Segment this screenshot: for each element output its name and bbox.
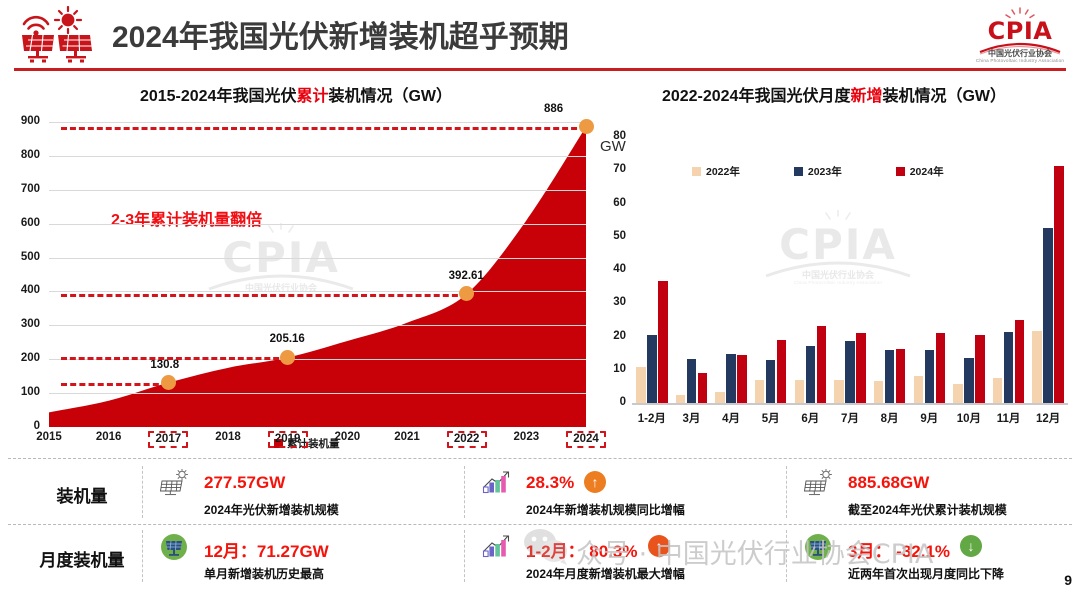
x-axis-tick-label: 5月 [749, 410, 793, 426]
table-cell-value: 1-2月： 80.3% [526, 537, 638, 562]
table-column-divider [786, 530, 787, 582]
solar-panel-icon [14, 6, 106, 64]
table-column-divider [142, 530, 143, 582]
bar-2022年-4月[interactable] [715, 392, 725, 403]
table-cell-value: 3月： -32.1% [848, 537, 950, 562]
x-axis-baseline [632, 403, 1068, 405]
table-cell-value: 28.3% [526, 473, 574, 493]
y-axis-tick-label: 500 [6, 251, 40, 263]
solar-panel-green-circle-icon [160, 533, 188, 566]
bar-2024年-12月[interactable] [1054, 166, 1064, 403]
bar-2024年-5月[interactable] [777, 340, 787, 403]
gridline [49, 325, 586, 326]
x-axis-tick-label: 2020 [327, 431, 367, 443]
bar-2024年-4月[interactable] [737, 355, 747, 403]
cumulative-area-series [49, 122, 586, 427]
table-cell-caption: 近两年首次出现月度同比下降 [848, 565, 1004, 582]
x-axis-tick-label: 2018 [208, 431, 248, 443]
x-axis-tick-label: 2023 [506, 431, 546, 443]
y-axis-tick-label: 0 [592, 396, 626, 408]
reference-dash-line [61, 357, 288, 360]
x-axis-tick-label: 6月 [788, 410, 832, 426]
bar-2022年-12月[interactable] [1032, 331, 1042, 403]
monthly-capacity-chart-panel: 2022-2024年我国光伏月度新增装机情况（GW） GW 2022年2023年… [592, 82, 1076, 454]
y-axis-tick-label: 20 [592, 330, 626, 342]
cpia-brand-logo: CPIA 中国光伏行业协会 China Photovoltaic Industr… [968, 6, 1072, 64]
right-chart-title-prefix: 2022-2024年我国光伏月度 [662, 88, 851, 105]
y-axis-tick-label: 50 [592, 230, 626, 242]
bar-2024年-1-2月[interactable] [658, 281, 668, 403]
bar-2024年-7月[interactable] [856, 333, 866, 403]
left-chart-annotation: 2-3年累计装机量翻倍 [111, 206, 262, 230]
right-chart-plot: GW 2022年2023年2024年 CPIA 中国光伏行业协会 China P… [592, 114, 1076, 454]
bar-2023年-7月[interactable] [845, 341, 855, 403]
x-axis-tick-label: 4月 [709, 410, 753, 426]
y-axis-tick-label: 300 [6, 318, 40, 330]
left-chart-plot: CPIA 中国光伏行业协会 China Photovoltaic Industr… [6, 114, 586, 454]
table-cell-caption: 单月新增装机历史最高 [204, 565, 324, 582]
x-axis-tick-label: 8月 [868, 410, 912, 426]
table-column-divider [464, 466, 465, 518]
bar-2022年-9月[interactable] [914, 376, 924, 403]
y-axis-tick-label: 100 [6, 386, 40, 398]
cpia-logo-en-name: China Photovoltaic Industry Association [968, 58, 1072, 63]
bar-2023年-9月[interactable] [925, 350, 935, 403]
x-axis-tick-label: 2017 [148, 431, 188, 448]
bar-2024年-11月[interactable] [1015, 320, 1025, 403]
table-cell-caption: 2024年月度新增装机最大增幅 [526, 565, 685, 582]
data-point-label: 130.8 [150, 359, 179, 371]
bar-2024年-6月[interactable] [817, 326, 827, 403]
x-axis-tick-label: 11月 [987, 410, 1031, 426]
table-row-divider [8, 524, 1072, 525]
bar-2022年-6月[interactable] [795, 380, 805, 403]
page-number: 9 [1064, 572, 1072, 588]
bar-2023年-6月[interactable] [806, 346, 816, 403]
solar-panel-outline-icon [804, 469, 834, 502]
bar-2022年-3月[interactable] [676, 395, 686, 403]
y-axis-tick-label: 60 [592, 197, 626, 209]
table-cell-caption: 截至2024年光伏累计装机规模 [848, 501, 1007, 518]
trend-badge-icon: ↓ [960, 535, 982, 557]
table-column-divider [142, 466, 143, 518]
right-chart-title-highlight: 新增 [850, 88, 882, 105]
gridline [49, 190, 586, 191]
solar-panel-outline-icon [160, 469, 190, 502]
trend-badge-icon: ↑ [584, 471, 606, 493]
gridline [49, 291, 586, 292]
table-top-border [8, 458, 1072, 459]
gridline [49, 258, 586, 259]
y-axis-tick-label: 10 [592, 363, 626, 375]
bar-2023年-1-2月[interactable] [647, 335, 657, 403]
x-axis-tick-label: 3月 [669, 410, 713, 426]
right-chart-title-suffix: 装机情况（GW） [882, 88, 1006, 105]
x-axis-tick-label: 2022 [447, 431, 487, 448]
y-axis-tick-label: 40 [592, 263, 626, 275]
y-axis-tick-label: 900 [6, 115, 40, 127]
bar-2022年-1-2月[interactable] [636, 367, 646, 403]
bar-series-area: 1-2月3月4月5月6月7月8月9月10月11月12月 [592, 114, 1076, 454]
gridline [49, 156, 586, 157]
y-axis-tick-label: 200 [6, 352, 40, 364]
table-row-label: 装机量 [8, 482, 156, 507]
x-axis-tick-label: 1-2月 [630, 410, 674, 426]
y-axis-tick-label: 400 [6, 284, 40, 296]
bar-2024年-3月[interactable] [698, 373, 708, 403]
data-point-label: 886 [544, 103, 563, 115]
gridline [49, 224, 586, 225]
table-column-divider [464, 530, 465, 582]
left-chart-title: 2015-2024年我国光伏累计装机情况（GW） [6, 82, 586, 106]
left-chart-title-highlight: 累计 [296, 88, 328, 105]
data-point-marker[interactable] [161, 375, 176, 390]
y-axis-tick-label: 80 [592, 130, 626, 142]
bar-2023年-5月[interactable] [766, 360, 776, 403]
table-column-divider [786, 466, 787, 518]
bar-2023年-10月[interactable] [964, 358, 974, 403]
x-axis-tick-label: 2015 [29, 431, 69, 443]
bar-2023年-4月[interactable] [726, 354, 736, 403]
reference-dash-line [61, 294, 467, 297]
y-axis-tick-label: 800 [6, 149, 40, 161]
data-point-label: 205.16 [270, 333, 305, 345]
x-axis-tick-label: 12月 [1026, 410, 1070, 426]
bar-2023年-8月[interactable] [885, 350, 895, 403]
x-axis-tick-label: 9月 [907, 410, 951, 426]
reference-dash-line [61, 127, 586, 130]
bar-2022年-8月[interactable] [874, 381, 884, 403]
bar-2022年-7月[interactable] [834, 380, 844, 403]
x-axis-tick-label: 2019 [268, 431, 308, 448]
svg-text:CPIA: CPIA [988, 17, 1053, 45]
header-divider [14, 68, 1066, 71]
table-cell-value: 12月：71.27GW [204, 537, 329, 562]
bar-2023年-11月[interactable] [1004, 332, 1014, 403]
y-axis-tick-label: 700 [6, 183, 40, 195]
bar-2024年-10月[interactable] [975, 335, 985, 403]
slide-root: 2024年我国光伏新增装机超乎预期 CPIA 中国光伏行业协会 China Ph… [0, 0, 1080, 592]
y-axis-tick-label: 70 [592, 163, 626, 175]
table-row-label: 月度装机量 [8, 546, 156, 571]
gridline [49, 393, 586, 394]
x-axis-tick-label: 2021 [387, 431, 427, 443]
table-cell-value: 277.57GW [204, 473, 285, 493]
right-chart-title: 2022-2024年我国光伏月度新增装机情况（GW） [592, 82, 1076, 106]
bar-2023年-12月[interactable] [1043, 228, 1053, 403]
bar-2023年-3月[interactable] [687, 359, 697, 403]
table-cell-caption: 2024年光伏新增装机规模 [204, 501, 339, 518]
gridline [49, 122, 586, 123]
x-axis-tick-label: 10月 [947, 410, 991, 426]
cumulative-capacity-chart-panel: 2015-2024年我国光伏累计装机情况（GW） CPIA 中国光伏行业协会 C… [6, 82, 586, 454]
table-cell-caption: 2024年新增装机规模同比增幅 [526, 501, 685, 518]
bar-2022年-10月[interactable] [953, 384, 963, 403]
y-axis-tick-label: 600 [6, 217, 40, 229]
slide-header: 2024年我国光伏新增装机超乎预期 CPIA 中国光伏行业协会 China Ph… [0, 0, 1080, 76]
reference-dash-line [61, 383, 168, 386]
bar-2022年-5月[interactable] [755, 380, 765, 403]
bar-growth-icon [482, 469, 512, 500]
table-cell-value: 885.68GW [848, 473, 929, 493]
left-chart-title-suffix: 装机情况（GW） [328, 88, 452, 105]
y-axis-tick-label: 30 [592, 296, 626, 308]
bar-2024年-9月[interactable] [936, 333, 946, 403]
summary-table: 装机量277.57GW2024年光伏新增装机规模28.3%↑2024年新增装机规… [8, 458, 1072, 588]
data-point-label: 392.61 [449, 270, 484, 282]
x-axis-tick-label: 2016 [89, 431, 129, 443]
bar-2024年-8月[interactable] [896, 349, 906, 403]
trend-badge-icon: ↑ [648, 535, 670, 557]
left-chart-title-prefix: 2015-2024年我国光伏 [140, 88, 297, 105]
page-title: 2024年我国光伏新增装机超乎预期 [112, 12, 569, 56]
x-axis-tick-label: 7月 [828, 410, 872, 426]
bar-growth-icon [482, 533, 512, 564]
solar-panel-green-circle-icon [804, 533, 832, 566]
bar-2022年-11月[interactable] [993, 378, 1003, 403]
